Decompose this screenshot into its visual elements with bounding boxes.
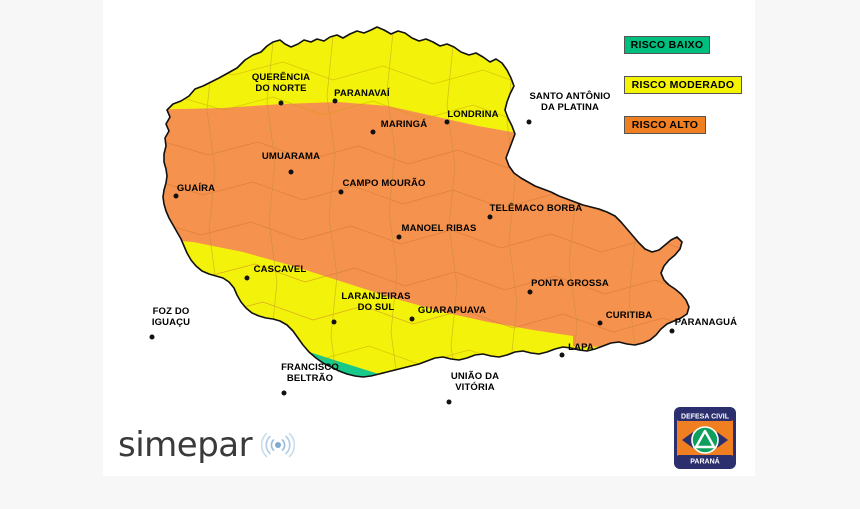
- risk-legend: RISCO BAIXO RISCO MODERADO RISCO ALTO: [624, 36, 748, 134]
- city-dot: [445, 120, 450, 125]
- city-dot: [598, 321, 603, 326]
- radio-wave-icon: [261, 428, 295, 462]
- city-dot: [560, 353, 565, 358]
- city-dot: [332, 320, 337, 325]
- city-dot: [279, 101, 284, 106]
- defesa-civil-top-text: DEFESA CIVIL: [681, 414, 730, 421]
- simepar-wordmark: simepar: [118, 428, 252, 462]
- legend-item-risco-moderado[interactable]: RISCO MODERADO: [624, 76, 742, 94]
- simepar-logo[interactable]: simepar: [118, 428, 295, 462]
- screenshot-canvas: QUERÊNCIA DO NORTEPARANAVAÍMARINGÁLONDRI…: [0, 0, 860, 509]
- defesa-civil-parana-badge[interactable]: DEFESA CIVIL PARANÁ: [673, 406, 737, 470]
- city-dot: [282, 391, 287, 396]
- city-dot: [410, 317, 415, 322]
- city-dot: [488, 215, 493, 220]
- city-dot: [150, 335, 155, 340]
- city-dot: [371, 130, 376, 135]
- city-dot: [528, 290, 533, 295]
- city-dot: [397, 235, 402, 240]
- city-dot: [333, 99, 338, 104]
- city-dot: [339, 190, 344, 195]
- defesa-civil-bottom-text: PARANÁ: [690, 457, 719, 466]
- legend-item-risco-alto[interactable]: RISCO ALTO: [624, 116, 706, 134]
- city-dot: [527, 120, 532, 125]
- city-dot: [245, 276, 250, 281]
- legend-item-risco-baixo[interactable]: RISCO BAIXO: [624, 36, 710, 54]
- city-dot: [289, 170, 294, 175]
- city-dot: [670, 329, 675, 334]
- city-dot: [174, 194, 179, 199]
- city-dot: [447, 400, 452, 405]
